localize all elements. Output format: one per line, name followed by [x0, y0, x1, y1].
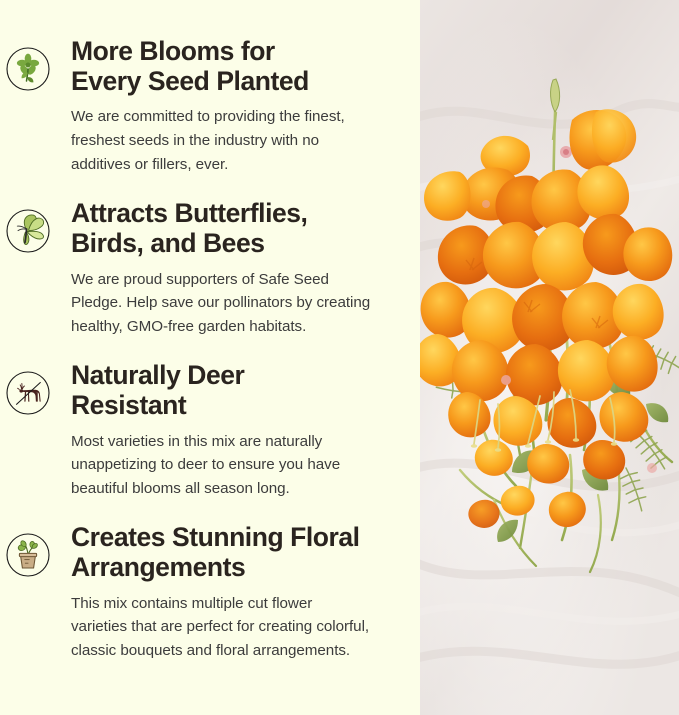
- feature-body: Most varieties in this mix are naturally…: [71, 430, 398, 501]
- flower-sprout-icon: [5, 46, 51, 92]
- feature-body: This mix contains multiple cut flower va…: [71, 592, 398, 663]
- feature-text-wrapper: More Blooms for Every Seed Planted We ar…: [57, 36, 402, 176]
- feature-heading: Naturally Deer Resistant: [71, 360, 398, 420]
- feature-block-attracts-pollinators: Attracts Butterflies, Birds, and Bees We…: [5, 198, 402, 338]
- feature-icon-wrapper: [5, 36, 57, 176]
- potted-plant-icon: [5, 532, 51, 578]
- feature-icon-wrapper: [5, 360, 57, 500]
- feature-body: We are committed to providing the finest…: [71, 105, 398, 176]
- feature-text-wrapper: Naturally Deer Resistant Most varieties …: [57, 360, 402, 500]
- feature-block-floral-arrangements: Creates Stunning Floral Arrangements Thi…: [5, 522, 402, 662]
- feature-icon-wrapper: [5, 198, 57, 338]
- feature-icon-wrapper: [5, 522, 57, 662]
- poppy-bouquet-illustration: [420, 0, 679, 715]
- feature-heading: Attracts Butterflies, Birds, and Bees: [71, 198, 398, 258]
- feature-heading: Creates Stunning Floral Arrangements: [71, 522, 398, 582]
- features-panel: More Blooms for Every Seed Planted We ar…: [0, 0, 420, 715]
- feature-text-wrapper: Creates Stunning Floral Arrangements Thi…: [57, 522, 402, 662]
- product-photo-poppy-bouquet: [420, 0, 679, 715]
- feature-body: We are proud supporters of Safe Seed Ple…: [71, 268, 398, 339]
- feature-block-more-blooms: More Blooms for Every Seed Planted We ar…: [5, 36, 402, 176]
- no-deer-icon: [5, 370, 51, 416]
- butterfly-icon: [5, 208, 51, 254]
- feature-heading: More Blooms for Every Seed Planted: [71, 36, 398, 96]
- feature-text-wrapper: Attracts Butterflies, Birds, and Bees We…: [57, 198, 402, 338]
- feature-block-deer-resistant: Naturally Deer Resistant Most varieties …: [5, 360, 402, 500]
